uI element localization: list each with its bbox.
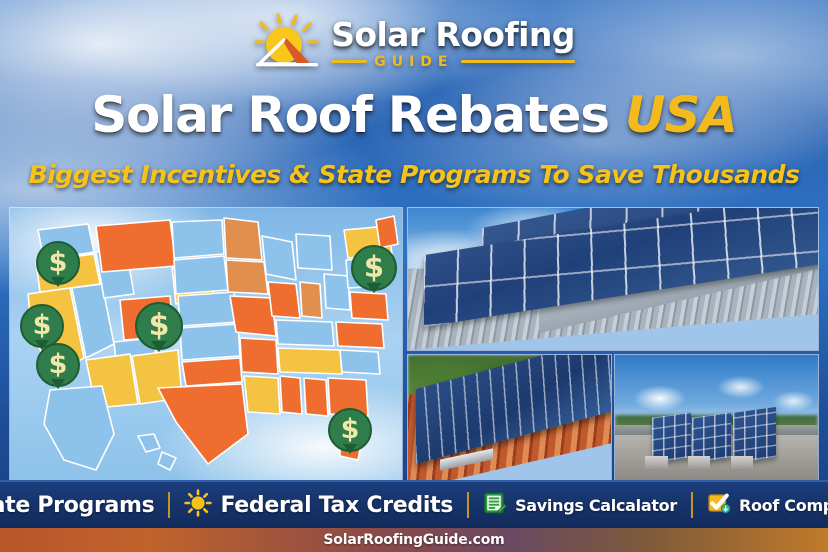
feature-bar: State Programs Federal Tax Credits bbox=[0, 480, 828, 528]
feature-label: Federal Tax Credits bbox=[220, 493, 453, 518]
feature-savings-calculator[interactable]: Savings Calcalator bbox=[469, 491, 691, 520]
feature-state-programs[interactable]: State Programs bbox=[0, 493, 168, 518]
feature-label: Roof Compatibility bbox=[739, 496, 828, 515]
svg-text:$: $ bbox=[33, 310, 52, 341]
feature-roof-compatibility[interactable]: Roof Compatibility bbox=[693, 491, 828, 520]
brand-subtitle: GUIDE bbox=[374, 55, 453, 69]
brand-name: Solar Roofing bbox=[331, 18, 575, 51]
metal-roof-solar-photo bbox=[408, 208, 818, 350]
footer-bar: SolarRoofingGuide.com bbox=[0, 528, 828, 552]
feature-federal-tax-credits[interactable]: Federal Tax Credits bbox=[170, 489, 467, 522]
feature-label: Savings Calcalator bbox=[515, 496, 677, 515]
feature-divider bbox=[691, 492, 693, 518]
sun-icon bbox=[184, 489, 212, 522]
logo-rule-left bbox=[331, 60, 367, 63]
page-subtitle: Biggest Incentives & State Programs To S… bbox=[0, 160, 828, 189]
headline-main: Solar Roof Rebates bbox=[91, 86, 609, 144]
svg-text:$: $ bbox=[364, 250, 384, 284]
flat-roof-solar-photo bbox=[615, 355, 818, 480]
logo-rule-right bbox=[461, 60, 575, 63]
headline-accent: USA bbox=[625, 86, 737, 144]
sun-roof-icon bbox=[253, 12, 325, 72]
image-collage: $ $ $ $ bbox=[10, 208, 818, 480]
site-url[interactable]: SolarRoofingGuide.com bbox=[323, 532, 504, 548]
feature-divider bbox=[168, 492, 170, 518]
usa-rebate-map: $ $ $ $ bbox=[10, 208, 402, 480]
brand-logo[interactable]: Solar Roofing GUIDE bbox=[0, 12, 828, 72]
tile-roof-solar-photo bbox=[408, 355, 611, 480]
svg-text:$: $ bbox=[341, 414, 360, 445]
poster-canvas: Solar Roofing GUIDE Solar Roof Rebates U… bbox=[0, 0, 828, 552]
feature-label: State Programs bbox=[0, 493, 154, 518]
svg-text:$: $ bbox=[49, 247, 68, 278]
checkmark-icon bbox=[707, 491, 731, 520]
svg-text:$: $ bbox=[49, 349, 68, 380]
feature-divider bbox=[467, 492, 469, 518]
ledger-icon bbox=[483, 491, 507, 520]
svg-text:$: $ bbox=[149, 308, 170, 343]
page-title: Solar Roof Rebates USA bbox=[0, 88, 828, 142]
